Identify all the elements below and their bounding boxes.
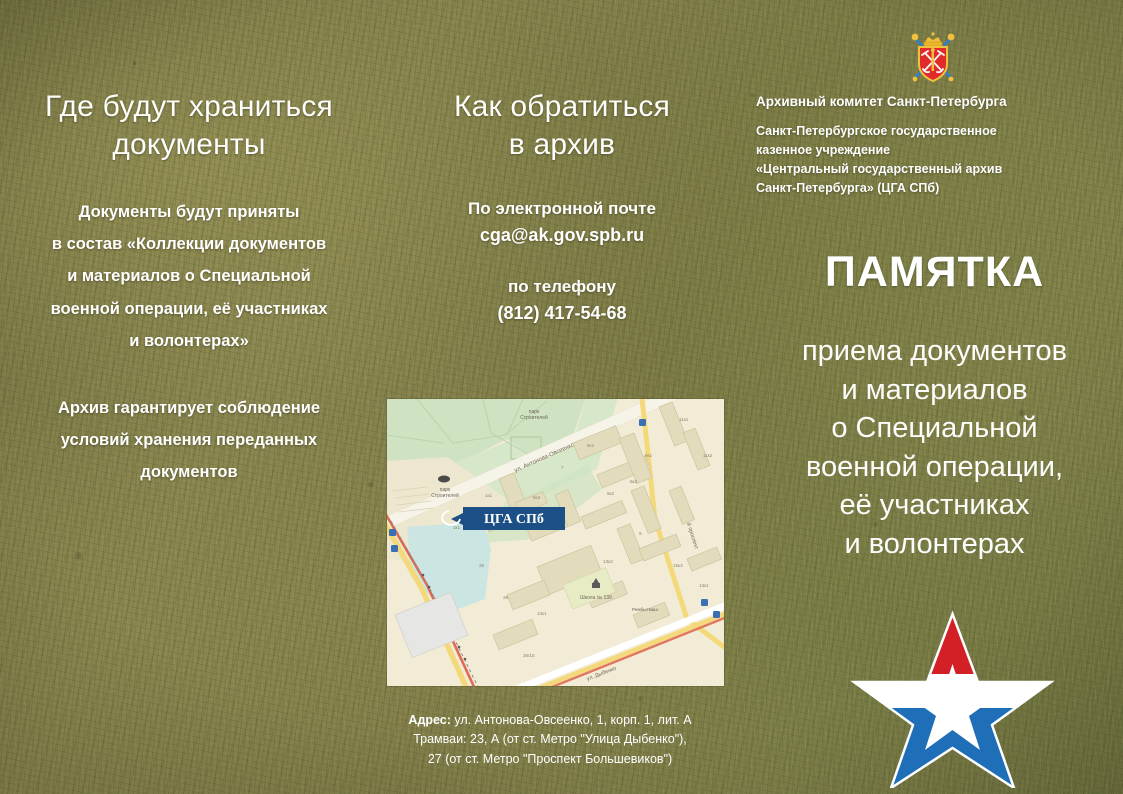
org-line-3: «Центральный государственный архив	[756, 160, 1114, 179]
subtitle-line-1: приема документов	[746, 332, 1123, 371]
middle-heading-line-2: в архив	[378, 126, 746, 164]
svg-text:Строителей: Строителей	[431, 492, 459, 499]
crown-icon	[924, 32, 942, 46]
email-address[interactable]: cga@ak.gov.spb.ru	[378, 222, 746, 249]
org-committee: Архивный комитет Санкт-Петербурга	[756, 92, 1114, 112]
svg-text:15к3: 15к3	[673, 563, 683, 568]
left-p2-line-2: условий хранения переданных	[14, 424, 364, 456]
address-label: Адрес:	[408, 713, 451, 727]
org-line-4: Санкт-Петербурга» (ЦГА СПб)	[756, 179, 1114, 198]
svg-text:6к2: 6к2	[533, 495, 541, 500]
email-label: По электронной почте	[378, 196, 746, 222]
map-marker-label: ЦГА СПб	[484, 512, 544, 527]
svg-text:5к1: 5к1	[587, 443, 595, 448]
subtitle-line-2: и материалов	[746, 371, 1123, 410]
phone-number[interactable]: (812) 417-54-68	[378, 300, 746, 327]
org-line-1: Санкт-Петербургское государственное	[756, 122, 1114, 141]
svg-text:Школа № 139: Школа № 139	[580, 595, 612, 601]
middle-column-heading: Как обратиться в архив	[378, 88, 746, 165]
left-p2-line-1: Архив гарантирует соблюдение	[14, 392, 364, 424]
address-line-2: Трамваи: 23, А (от ст. Метро "Улица Дыбе…	[370, 730, 730, 749]
left-p1-line-2: в состав «Коллекции документов	[14, 228, 364, 260]
left-paragraph-guarantee: Архив гарантирует соблюдение условий хра…	[14, 392, 364, 489]
svg-text:13к3: 13к3	[603, 559, 613, 564]
svg-text:Рембытмаш: Рембытмаш	[632, 607, 658, 612]
address-street: ул. Антонова-Овсеенко, 1, корп. 1, лит. …	[451, 713, 692, 727]
location-map[interactable]: ул. Антонова-Овсеенко Искровский проспек…	[387, 399, 724, 686]
phone-contact-block: по телефону (812) 417-54-68	[378, 274, 746, 327]
left-heading-line-2: документы	[0, 126, 378, 164]
left-p1-line-1: Документы будут приняты	[14, 196, 364, 228]
svg-text:9к1: 9к1	[645, 453, 653, 458]
svg-text:5к2: 5к2	[630, 479, 638, 484]
left-p2-line-3: документов	[14, 456, 364, 488]
email-contact-block: По электронной почте cga@ak.gov.spb.ru	[378, 196, 746, 249]
address-line-3: 27 (от ст. Метро "Проспект Большевиков")	[370, 750, 730, 769]
left-heading-line-1: Где будут храниться	[0, 88, 378, 126]
org-line-2: казенное учреждение	[756, 141, 1114, 160]
tricolor-star-logo	[845, 608, 1060, 788]
svg-text:11к2: 11к2	[703, 453, 713, 458]
left-p1-line-5: и волонтерах»	[14, 325, 364, 357]
main-title: ПАМЯТКА	[746, 248, 1123, 297]
svg-text:1к1: 1к1	[453, 525, 461, 530]
svg-text:11к1: 11к1	[679, 417, 689, 422]
saint-petersburg-coat-of-arms-icon	[905, 28, 961, 86]
subtitle-line-3: о Специальной	[746, 409, 1123, 448]
middle-heading-line-1: Как обратиться	[378, 88, 746, 126]
svg-text:26: 26	[479, 563, 485, 568]
left-p1-line-3: и материалов о Специальной	[14, 260, 364, 292]
subtitle-line-5: её участниках	[746, 486, 1123, 525]
main-subtitle: приема документов и материалов о Специал…	[746, 332, 1123, 563]
organization-header: Архивный комитет Санкт-Петербурга Санкт-…	[756, 92, 1114, 198]
left-column-heading: Где будут храниться документы	[0, 88, 378, 165]
svg-text:26/15: 26/15	[523, 653, 535, 658]
svg-text:9: 9	[639, 531, 642, 536]
address-line-1: Адрес: ул. Антонова-Овсеенко, 1, корп. 1…	[370, 711, 730, 730]
svg-text:6к2: 6к2	[607, 491, 615, 496]
left-p1-line-4: военной операции, её участниках	[14, 293, 364, 325]
svg-text:13к1: 13к1	[699, 583, 709, 588]
svg-text:1к1: 1к1	[485, 493, 493, 498]
svg-text:13к1: 13к1	[537, 611, 547, 616]
svg-text:28: 28	[503, 595, 509, 600]
svg-text:7: 7	[561, 465, 564, 470]
svg-text:Строителей: Строителей	[520, 414, 548, 421]
address-block: Адрес: ул. Антонова-Овсеенко, 1, корп. 1…	[370, 711, 730, 769]
subtitle-line-6: и волонтерах	[746, 525, 1123, 564]
left-paragraph-collection: Документы будут приняты в состав «Коллек…	[14, 196, 364, 357]
phone-label: по телефону	[378, 274, 746, 300]
subtitle-line-4: военной операции,	[746, 448, 1123, 487]
map-graphic: ул. Антонова-Овсеенко Искровский проспек…	[387, 399, 724, 686]
brochure-page: Где будут храниться документы Документы …	[0, 0, 1123, 794]
